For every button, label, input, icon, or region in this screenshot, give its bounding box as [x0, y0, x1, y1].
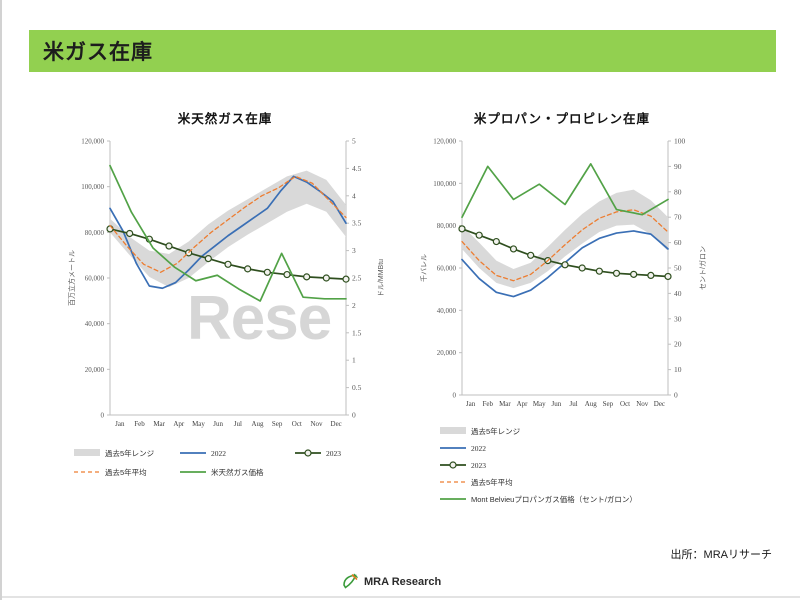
x-tick-label: Nov — [636, 400, 649, 408]
chart-natural-gas: 米天然ガス在庫 020,00040,00060,00080,000100,000… — [60, 108, 390, 523]
series-marker — [665, 273, 671, 279]
legend-label: 過去5年平均 — [471, 477, 513, 487]
legend-label: 2023 — [471, 461, 486, 470]
x-tick-label: Jun — [552, 400, 562, 408]
x-tick-label: Sep — [603, 400, 614, 408]
y-tick-label-left: 60,000 — [437, 265, 457, 273]
chart-title-propane-propylene: 米プロパン・プロピレン在庫 — [412, 108, 712, 127]
x-tick-label: Dec — [331, 420, 342, 428]
y-tick-label-left: 100,000 — [433, 180, 456, 188]
slide-canvas: Rese 米ガス在庫 米天然ガス在庫 020,00040,00060,00080… — [0, 0, 800, 600]
y-tick-label-right: 10 — [674, 365, 682, 374]
y-tick-label-right: 4.5 — [352, 164, 362, 173]
legend-item: 過去5年レンジ — [74, 448, 155, 458]
y-tick-label-right: 1.5 — [352, 328, 362, 337]
y-tick-label-right: 2.5 — [352, 274, 362, 283]
leaf-icon — [340, 572, 360, 592]
x-tick-label: Jan — [115, 420, 125, 428]
slide-title-banner: 米ガス在庫 — [29, 30, 776, 72]
legend-label: 過去5年平均 — [105, 467, 147, 477]
series-marker — [323, 275, 329, 281]
chart-propane-propylene: 米プロパン・プロピレン在庫 020,00040,00060,00080,0001… — [412, 108, 712, 523]
series-marker — [264, 269, 270, 275]
y-tick-label-left: 60,000 — [85, 275, 105, 283]
mra-research-logo: MRA Research — [340, 572, 441, 592]
y-axis-title-left: 千バレル — [419, 254, 428, 282]
y-axis-title-right: セント/ガロン — [698, 246, 707, 290]
legend-item: 過去5年レンジ — [440, 426, 521, 436]
legend-label: Mont Belvieuプロパンガス価格（セント/ガロン） — [471, 494, 637, 504]
series-marker — [596, 268, 602, 274]
y-tick-label-left: 0 — [453, 392, 457, 400]
legend-item: 2023 — [440, 461, 486, 470]
x-tick-label: May — [533, 400, 546, 408]
legend-item: 米天然ガス価格 — [180, 467, 264, 477]
legend-label: 2022 — [211, 449, 226, 458]
y-tick-label-left: 40,000 — [437, 307, 457, 315]
legend-label: 2023 — [326, 449, 341, 458]
x-tick-label: Apr — [517, 400, 529, 408]
x-tick-label: Jan — [466, 400, 476, 408]
x-tick-label: Jun — [213, 420, 223, 428]
series-marker — [493, 239, 499, 245]
chart-title-natural-gas: 米天然ガス在庫 — [60, 108, 390, 127]
y-tick-label-right: 50 — [674, 264, 682, 273]
legend-label: 米天然ガス価格 — [211, 467, 264, 477]
y-tick-label-right: 5 — [352, 137, 356, 146]
legend-item: 2022 — [180, 449, 226, 458]
x-tick-label: Aug — [251, 420, 264, 428]
x-tick-label: Jul — [234, 420, 242, 428]
y-tick-label-right: 3.5 — [352, 219, 362, 228]
y-axis-title-right: ドル/MMBtu — [378, 259, 385, 297]
legend-swatch-marker — [305, 450, 311, 456]
page-title: 米ガス在庫 — [43, 36, 153, 66]
source-note: 出所：MRAリサーチ — [671, 546, 772, 562]
y-tick-label-right: 3 — [352, 246, 356, 255]
y-tick-label-left: 0 — [101, 412, 105, 420]
y-tick-label-left: 120,000 — [81, 138, 104, 146]
x-tick-label: Mar — [153, 420, 165, 428]
series-marker — [284, 272, 290, 278]
chart-svg-propane-propylene: 020,00040,00060,00080,000100,000120,0000… — [412, 135, 712, 525]
series-marker — [631, 271, 637, 277]
series-marker — [459, 226, 465, 232]
y-tick-label-left: 100,000 — [81, 183, 104, 191]
series-marker — [127, 230, 133, 236]
y-tick-label-right: 30 — [674, 314, 682, 323]
legend-item: 2023 — [295, 449, 341, 458]
y-tick-label-left: 40,000 — [85, 320, 105, 328]
y-tick-label-left: 80,000 — [85, 229, 105, 237]
x-tick-label: Dec — [654, 400, 665, 408]
series-marker — [511, 246, 517, 252]
y-tick-label-right: 20 — [674, 340, 682, 349]
series-marker — [166, 243, 172, 249]
series-marker — [245, 266, 251, 272]
y-tick-label-right: 0.5 — [352, 383, 362, 392]
series-band-5y-range — [110, 171, 346, 287]
series-marker — [528, 252, 534, 258]
y-tick-label-right: 40 — [674, 289, 682, 298]
y-tick-label-right: 70 — [674, 213, 682, 222]
legend-item: 過去5年平均 — [440, 477, 513, 487]
series-marker — [648, 272, 654, 278]
legend-swatch-band — [440, 427, 466, 434]
legend-label: 過去5年レンジ — [471, 426, 521, 436]
bottom-divider — [2, 596, 800, 598]
x-tick-label: Apr — [173, 420, 185, 428]
y-tick-label-right: 100 — [674, 137, 686, 146]
y-tick-label-left: 80,000 — [437, 222, 457, 230]
y-tick-label-left: 20,000 — [437, 349, 457, 357]
series-marker — [343, 276, 349, 282]
x-tick-label: May — [192, 420, 205, 428]
series-marker — [476, 232, 482, 238]
logo-label: MRA Research — [364, 576, 441, 588]
series-marker — [225, 261, 231, 267]
x-tick-label: Oct — [292, 420, 302, 428]
series-marker — [614, 270, 620, 276]
series-marker — [562, 262, 568, 268]
y-tick-label-right: 4 — [352, 191, 356, 200]
y-tick-label-right: 1 — [352, 356, 356, 365]
legend-label: 過去5年レンジ — [105, 448, 155, 458]
x-tick-label: Sep — [272, 420, 283, 428]
series-marker — [304, 274, 310, 280]
legend-swatch-band — [74, 449, 100, 456]
x-tick-label: Nov — [310, 420, 323, 428]
x-tick-label: Feb — [134, 420, 145, 428]
legend-item: 過去5年平均 — [74, 467, 147, 477]
y-tick-label-right: 2 — [352, 301, 356, 310]
x-tick-label: Feb — [483, 400, 494, 408]
series-marker — [205, 256, 211, 262]
legend-swatch-marker — [450, 462, 456, 468]
y-tick-label-right: 0 — [674, 391, 678, 400]
y-tick-label-left: 120,000 — [433, 138, 456, 146]
legend-item: 2022 — [440, 444, 486, 453]
x-tick-label: Jul — [569, 400, 577, 408]
y-tick-label-left: 20,000 — [85, 366, 105, 374]
y-tick-label-right: 90 — [674, 162, 682, 171]
x-tick-label: Aug — [585, 400, 598, 408]
x-tick-label: Oct — [620, 400, 630, 408]
y-tick-label-right: 60 — [674, 238, 682, 247]
legend-item: Mont Belvieuプロパンガス価格（セント/ガロン） — [440, 494, 637, 504]
chart-svg-natural-gas: 020,00040,00060,00080,000100,000120,0000… — [60, 135, 390, 525]
series-marker — [579, 265, 585, 271]
y-tick-label-right: 0 — [352, 411, 356, 420]
legend-label: 2022 — [471, 444, 486, 453]
y-axis-title-left: 百万立方メートル — [67, 250, 76, 306]
x-tick-label: Mar — [499, 400, 511, 408]
y-tick-label-right: 80 — [674, 187, 682, 196]
